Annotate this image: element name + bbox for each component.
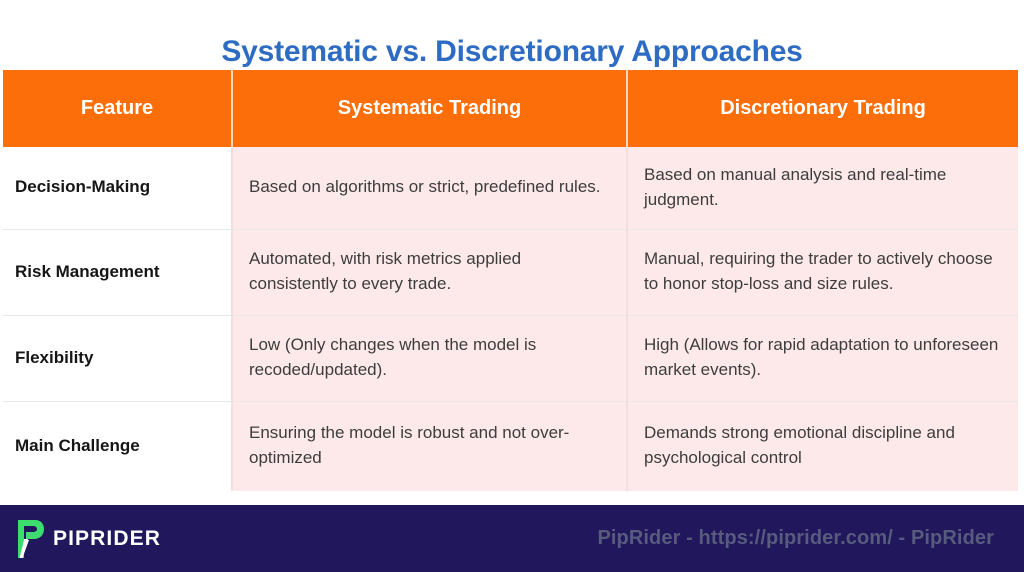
table-body: Decision-Making Based on algorithms or s… [3,147,1018,491]
table-header: Feature Systematic Trading Discretionary… [3,70,1018,147]
cell-discretionary-decision-making: Based on manual analysis and real-time j… [627,147,1018,229]
row-label-decision-making: Decision-Making [3,147,232,229]
footer-bar: PIPRIDER PipRider - https://piprider.com… [0,505,1024,572]
table-row: Main Challenge Ensuring the model is rob… [3,401,1018,491]
column-header-discretionary-trading: Discretionary Trading [627,70,1018,147]
table-row: Decision-Making Based on algorithms or s… [3,147,1018,229]
row-label-risk-management: Risk Management [3,229,232,315]
brand-name: PIPRIDER [53,527,161,551]
table-header-row: Feature Systematic Trading Discretionary… [3,70,1018,147]
comparison-infographic: Systematic vs. Discretionary Approaches … [0,0,1024,572]
cell-systematic-main-challenge: Ensuring the model is robust and not ove… [232,401,627,491]
cell-systematic-flexibility: Low (Only changes when the model is reco… [232,315,627,401]
cell-systematic-decision-making: Based on algorithms or strict, predefine… [232,147,627,229]
cell-systematic-risk-management: Automated, with risk metrics applied con… [232,229,627,315]
footer-credit: PipRider - https://piprider.com/ - PipRi… [597,527,1006,550]
row-label-main-challenge: Main Challenge [3,401,232,491]
column-header-systematic-trading: Systematic Trading [232,70,627,147]
row-label-flexibility: Flexibility [3,315,232,401]
cell-discretionary-risk-management: Manual, requiring the trader to actively… [627,229,1018,315]
piprider-logo-icon [14,518,44,560]
cell-discretionary-flexibility: High (Allows for rapid adaptation to unf… [627,315,1018,401]
comparison-table: Feature Systematic Trading Discretionary… [3,70,1018,491]
cell-discretionary-main-challenge: Demands strong emotional discipline and … [627,401,1018,491]
brand-lockup: PIPRIDER [14,518,161,560]
table-row: Flexibility Low (Only changes when the m… [3,315,1018,401]
page-title: Systematic vs. Discretionary Approaches [221,34,802,70]
column-header-feature: Feature [3,70,232,147]
table-row: Risk Management Automated, with risk met… [3,229,1018,315]
